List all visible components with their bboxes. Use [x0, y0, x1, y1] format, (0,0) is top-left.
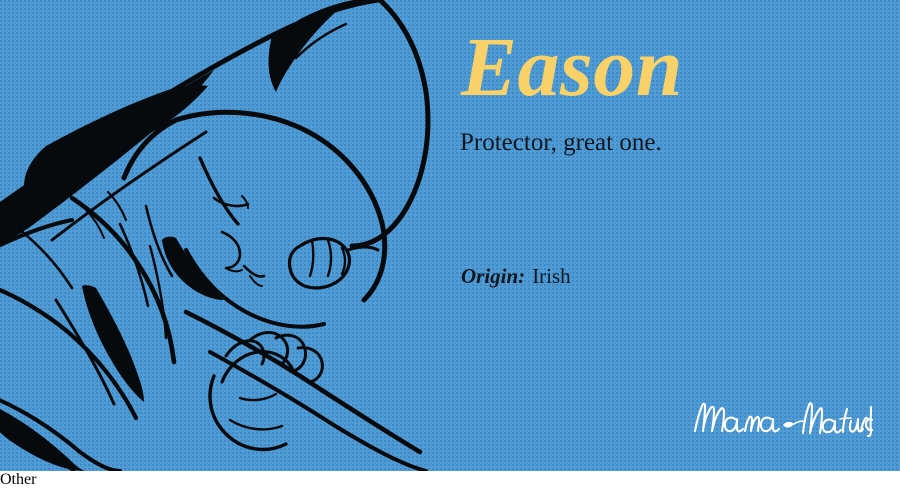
origin-row: Origin:Irish [461, 264, 571, 289]
origin-label: Origin: [461, 264, 525, 288]
sleeping-baby-illustration [0, 0, 440, 471]
mama-natural-logo [691, 395, 873, 441]
page-title: Eason [461, 26, 683, 110]
name-meaning: Protector, great one. [460, 128, 662, 158]
origin-value: Irish [532, 264, 571, 288]
baby-name-card: Eason Protector, great one. Origin:Irish [0, 0, 900, 471]
